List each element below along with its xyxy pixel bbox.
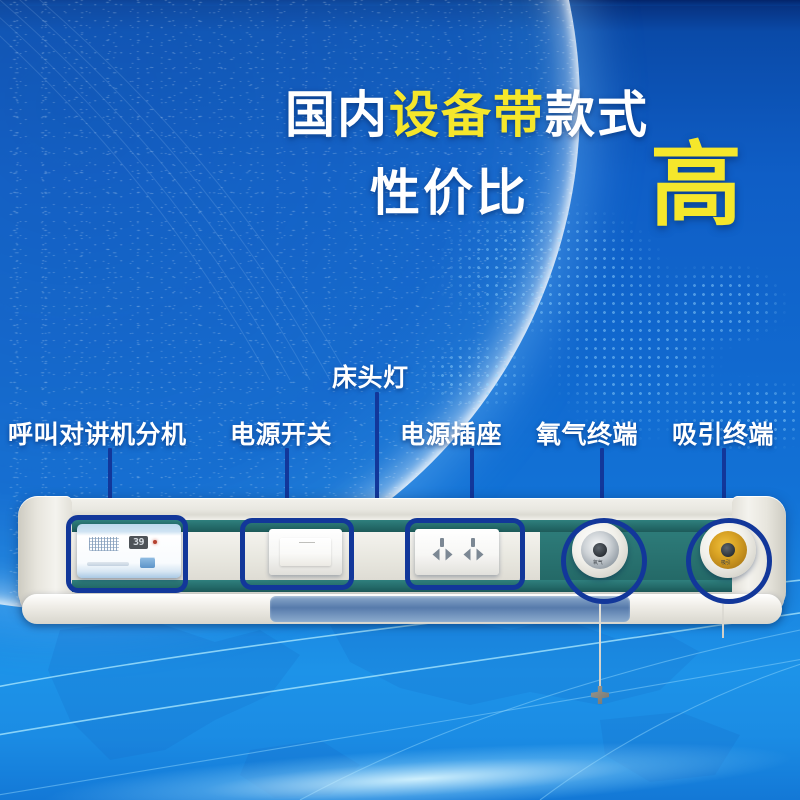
headline-segment-1: 国内 — [285, 87, 389, 143]
callout-label-outlet: 电源插座 — [400, 415, 502, 451]
callout-label-switch: 电源开关 — [230, 415, 332, 451]
suction-hose-cord — [599, 600, 601, 692]
headline-segment-3: 款式 — [545, 87, 649, 143]
highlight-box-outlet — [405, 518, 525, 590]
headline: 国内设备带款式 — [285, 90, 649, 140]
panel-rail-glass-insert — [270, 596, 630, 622]
callout-label-suction: 吸引终端 — [672, 415, 774, 451]
highlight-circle-suction — [686, 518, 772, 604]
callout-label-intercom: 呼叫对讲机分机 — [8, 415, 187, 451]
terminal-cord-secondary — [722, 600, 724, 638]
highlight-box-switch — [240, 518, 354, 590]
callout-label-oxygen: 氧气终端 — [536, 415, 638, 451]
emphasis-character: 高 — [650, 140, 742, 232]
promo-banner: 国内设备带款式 性价比 高 呼叫对讲机分机 电源开关 床头灯 电源插座 氧气终端… — [0, 0, 800, 800]
arc-lines-decoration — [0, 0, 420, 380]
subheadline: 性价比 — [370, 168, 529, 218]
halftone-world-map — [420, 200, 800, 500]
headline-segment-2: 设备带 — [389, 87, 545, 143]
highlight-box-intercom — [66, 515, 188, 593]
callout-label-bedlamp: 床头灯 — [332, 358, 409, 394]
highlight-circle-oxygen — [561, 518, 647, 604]
